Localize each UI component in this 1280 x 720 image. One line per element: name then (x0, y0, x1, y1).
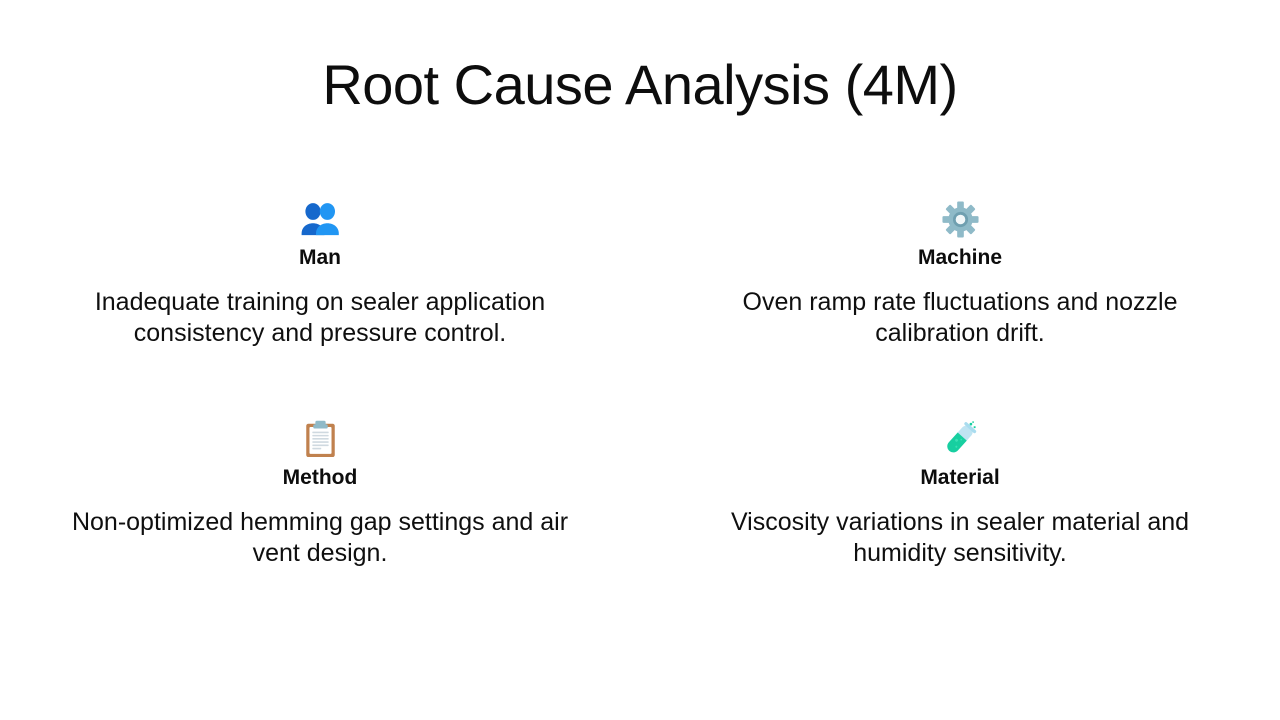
people-icon (298, 197, 342, 241)
gear-icon (938, 197, 982, 241)
category-card-man[interactable]: Man Inadequate training on sealer applic… (0, 175, 640, 395)
category-card-method[interactable]: Method Non-optimized hemming gap setting… (0, 395, 640, 615)
category-description-man: Inadequate training on sealer applicatio… (70, 287, 570, 349)
page-title: Root Cause Analysis (4M) (0, 50, 1280, 120)
category-heading-machine: Machine (918, 245, 1002, 271)
category-card-machine[interactable]: Machine Oven ramp rate fluctuations and … (640, 175, 1280, 395)
category-heading-method: Method (283, 465, 358, 491)
clipboard-icon (298, 417, 342, 461)
slide-root: Root Cause Analysis (4M) Man Inadequate … (0, 0, 1280, 720)
category-card-material[interactable]: Material Viscosity variations in sealer … (640, 395, 1280, 615)
category-description-method: Non-optimized hemming gap settings and a… (70, 507, 570, 569)
test-tube-icon (938, 417, 982, 461)
category-heading-material: Material (920, 465, 999, 491)
category-heading-man: Man (299, 245, 341, 271)
category-description-machine: Oven ramp rate fluctuations and nozzle c… (713, 287, 1208, 349)
category-description-material: Viscosity variations in sealer material … (713, 507, 1208, 569)
four-m-grid: Man Inadequate training on sealer applic… (0, 175, 1280, 615)
